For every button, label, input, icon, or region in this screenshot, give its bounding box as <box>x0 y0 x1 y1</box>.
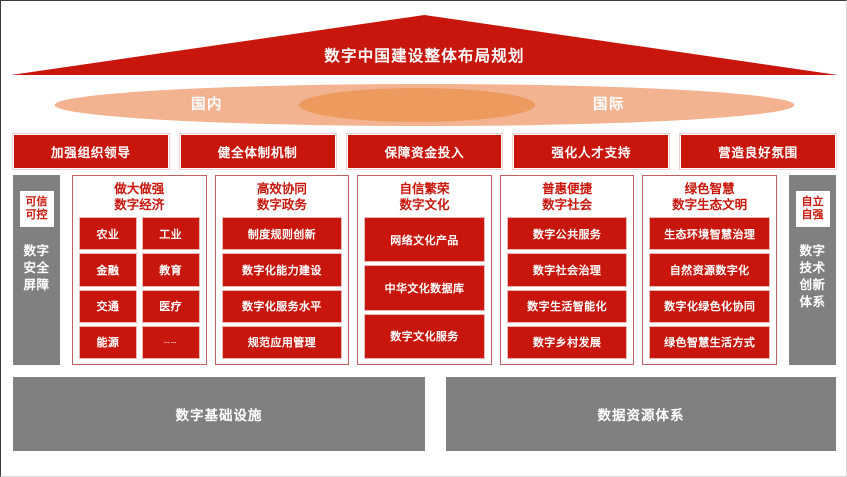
ellipse-band-icon <box>1 81 847 129</box>
left-pillar-badge: 可信 可控 <box>20 191 54 227</box>
item-online-cultural-products[interactable]: 网络文化产品 <box>365 218 484 261</box>
item-digital-cultural-services[interactable]: 数字文化服务 <box>365 315 484 358</box>
column-title-digital-economy: 做大做强 数字经济 <box>80 181 199 213</box>
scope-band: 国内 国际 <box>1 81 847 129</box>
right-pillar-title: 数字 技术 创新 体系 <box>799 243 825 311</box>
roof-banner: 数字中国建设整体布局规划 <box>1 15 847 79</box>
measure-bar-system[interactable]: 健全体制机制 <box>180 134 336 169</box>
item-digital-public-services[interactable]: 数字公共服务 <box>508 218 627 249</box>
measure-bar-talent[interactable]: 强化人才支持 <box>513 134 669 169</box>
item-digital-service-level[interactable]: 数字化服务水平 <box>223 291 342 322</box>
item-chinese-culture-database[interactable]: 中华文化数据库 <box>365 266 484 309</box>
column-title-digital-government: 高效协同 数字政务 <box>223 181 342 213</box>
item-agriculture[interactable]: 农业 <box>80 218 136 249</box>
pillar-columns: 做大做强 数字经济 农业 工业 金融 教育 交通 医疗 能源 …… 高效协同 数… <box>72 175 777 365</box>
column-title-digital-culture: 自信繁荣 数字文化 <box>365 181 484 213</box>
safeguard-measures-row: 加强组织领导 健全体制机制 保障资金投入 强化人才支持 营造良好氛围 <box>13 134 836 169</box>
diagram-title: 数字中国建设整体布局规划 <box>1 44 847 66</box>
column-items-digital-ecology: 生态环境智慧治理 自然资源数字化 数字化绿色化协同 绿色智慧生活方式 <box>650 218 769 358</box>
item-standardized-application-management[interactable]: 规范应用管理 <box>223 327 342 358</box>
column-items-digital-government: 制度规则创新 数字化能力建设 数字化服务水平 规范应用管理 <box>223 218 342 358</box>
item-digital-capability-building[interactable]: 数字化能力建设 <box>223 254 342 285</box>
right-pillar-tech-innovation: 自立 自强 数字 技术 创新 体系 <box>789 175 836 365</box>
item-more-ellipsis[interactable]: …… <box>143 327 199 358</box>
item-smart-digital-life[interactable]: 数字生活智能化 <box>508 291 627 322</box>
measure-bar-atmosphere[interactable]: 营造良好氛围 <box>680 134 836 169</box>
column-items-digital-society: 数字公共服务 数字社会治理 数字生活智能化 数字乡村发展 <box>508 218 627 358</box>
item-finance[interactable]: 金融 <box>80 254 136 285</box>
left-pillar-title: 数字 安全 屏障 <box>23 243 49 294</box>
band-label-international: 国际 <box>593 93 625 114</box>
main-framework-row: 可信 可控 数字 安全 屏障 做大做强 数字经济 农业 工业 金融 教育 交通 … <box>13 175 836 365</box>
digital-china-framework-diagram: 数字中国建设整体布局规划 国内 国际 加强组织领导 健全体制机制 保障资金投入 … <box>0 0 847 477</box>
item-digital-rural-development[interactable]: 数字乡村发展 <box>508 327 627 358</box>
item-transport[interactable]: 交通 <box>80 291 136 322</box>
foundation-row: 数字基础设施 数据资源体系 <box>13 377 836 451</box>
column-digital-society: 普惠便捷 数字社会 数字公共服务 数字社会治理 数字生活智能化 数字乡村发展 <box>500 175 635 365</box>
measure-bar-organization[interactable]: 加强组织领导 <box>13 134 169 169</box>
left-pillar-security-shield: 可信 可控 数字 安全 屏障 <box>13 175 60 365</box>
item-institutional-rule-innovation[interactable]: 制度规则创新 <box>223 218 342 249</box>
column-items-digital-economy: 农业 工业 金融 教育 交通 医疗 能源 …… <box>80 218 199 358</box>
item-smart-environmental-governance[interactable]: 生态环境智慧治理 <box>650 218 769 249</box>
foundation-data-resources[interactable]: 数据资源体系 <box>446 377 836 451</box>
foundation-digital-infrastructure[interactable]: 数字基础设施 <box>13 377 425 451</box>
column-digital-ecology: 绿色智慧 数字生态文明 生态环境智慧治理 自然资源数字化 数字化绿色化协同 绿色… <box>642 175 777 365</box>
column-digital-culture: 自信繁荣 数字文化 网络文化产品 中华文化数据库 数字文化服务 <box>357 175 492 365</box>
item-green-smart-lifestyle[interactable]: 绿色智慧生活方式 <box>650 327 769 358</box>
column-digital-economy: 做大做强 数字经济 农业 工业 金融 教育 交通 医疗 能源 …… <box>72 175 207 365</box>
item-education[interactable]: 教育 <box>143 254 199 285</box>
item-energy[interactable]: 能源 <box>80 327 136 358</box>
column-digital-government: 高效协同 数字政务 制度规则创新 数字化能力建设 数字化服务水平 规范应用管理 <box>215 175 350 365</box>
item-digital-social-governance[interactable]: 数字社会治理 <box>508 254 627 285</box>
item-natural-resource-digitization[interactable]: 自然资源数字化 <box>650 254 769 285</box>
right-pillar-badge: 自立 自强 <box>796 191 830 227</box>
column-items-digital-culture: 网络文化产品 中华文化数据库 数字文化服务 <box>365 218 484 358</box>
item-industry[interactable]: 工业 <box>143 218 199 249</box>
item-digital-green-synergy[interactable]: 数字化绿色化协同 <box>650 291 769 322</box>
measure-bar-funding[interactable]: 保障资金投入 <box>347 134 503 169</box>
column-title-digital-society: 普惠便捷 数字社会 <box>508 181 627 213</box>
column-title-digital-ecology: 绿色智慧 数字生态文明 <box>650 181 769 213</box>
item-healthcare[interactable]: 医疗 <box>143 291 199 322</box>
band-label-domestic: 国内 <box>191 93 223 114</box>
